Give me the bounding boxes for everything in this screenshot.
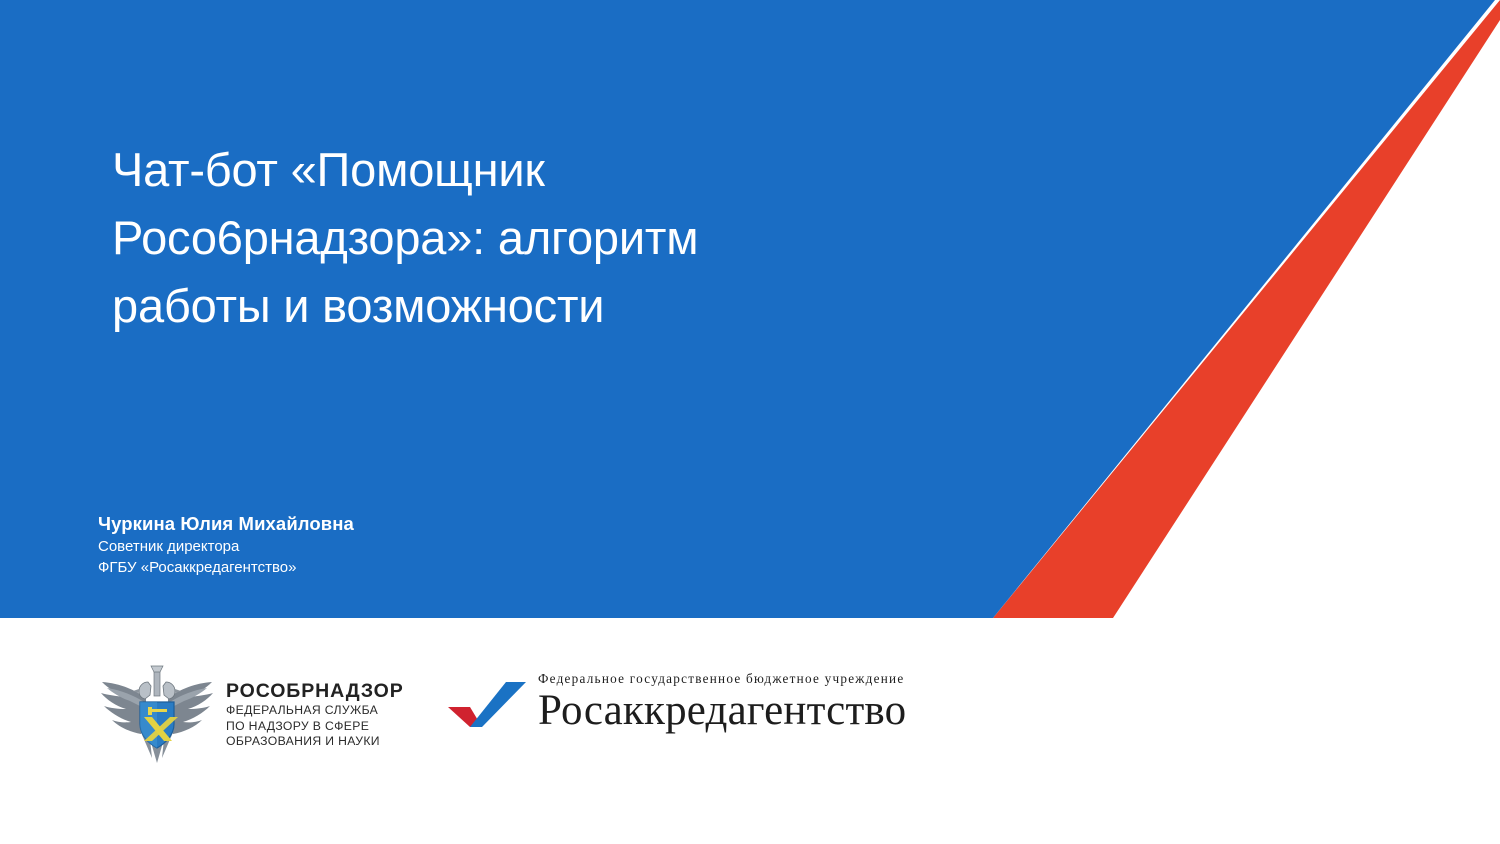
rosobrnadzor-name: РОСОБРНАДЗОР	[226, 680, 404, 703]
title-line-2: Росо6рнадзора»: алгоритм	[112, 204, 972, 272]
author-block: Чуркина Юлия Михайловна Советник директо…	[98, 512, 354, 578]
author-organization: ФГБУ «Росаккредагентство»	[98, 557, 354, 578]
logo-strip: РОСОБРНАДЗОР ФЕДЕРАЛЬНАЯ СЛУЖБА ПО НАДЗО…	[0, 618, 1500, 844]
rosakkredagentstvo-subtitle: Федеральное государственное бюджетное уч…	[538, 670, 906, 687]
presentation-slide: Чат-бот «Помощник Росо6рнадзора»: алгори…	[0, 0, 1500, 844]
author-name: Чуркина Юлия Михайловна	[98, 512, 354, 536]
rosobrnadzor-logo: РОСОБРНАДЗОР ФЕДЕРАЛЬНАЯ СЛУЖБА ПО НАДЗО…	[94, 662, 404, 766]
rosobrnadzor-subtitle-1: ФЕДЕРАЛЬНАЯ СЛУЖБА	[226, 703, 404, 719]
rosakkredagentstvo-name: Росаккредагентство	[538, 687, 906, 735]
checkmark-swoosh-mark-icon	[448, 680, 530, 736]
author-role: Советник директора	[98, 536, 354, 557]
swoosh-blue-part	[470, 682, 526, 727]
rosobrnadzor-subtitle-2: ПО НАДЗОРУ В СФЕРЕ	[226, 719, 404, 735]
rosobrnadzor-wordmark: РОСОБРНАДЗОР ФЕДЕРАЛЬНАЯ СЛУЖБА ПО НАДЗО…	[226, 678, 404, 750]
title-line-1: Чат-бот «Помощник	[112, 136, 972, 204]
rosakkredagentstvo-wordmark: Федеральное государственное бюджетное уч…	[538, 670, 906, 735]
title-line-3: работы и возможности	[112, 272, 972, 340]
rosakkredagentstvo-logo: Федеральное государственное бюджетное уч…	[448, 670, 906, 736]
double-headed-eagle-emblem-icon	[94, 662, 220, 766]
rosobrnadzor-subtitle-3: ОБРАЗОВАНИЯ И НАУКИ	[226, 734, 404, 750]
slide-title: Чат-бот «Помощник Росо6рнадзора»: алгори…	[112, 136, 972, 340]
